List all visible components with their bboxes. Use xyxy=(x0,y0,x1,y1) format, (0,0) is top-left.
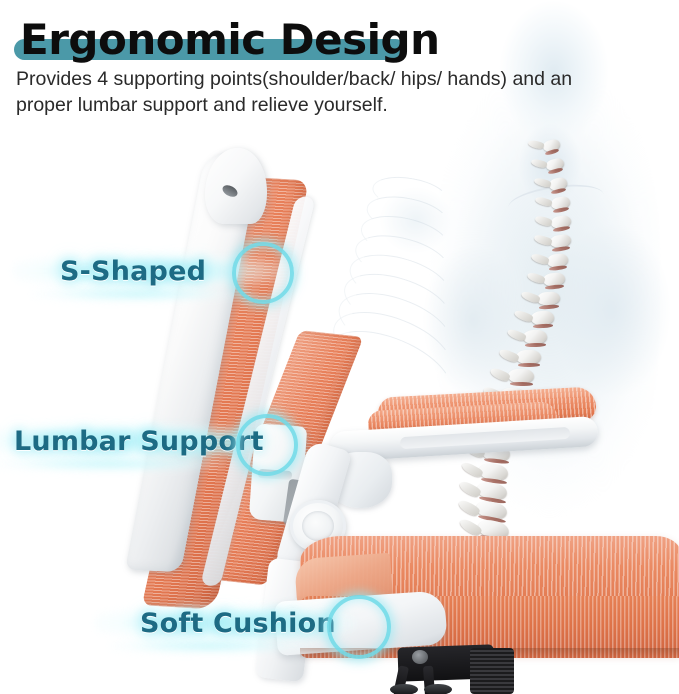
callout-s-shaped: S-Shaped xyxy=(60,248,206,294)
infographic-canvas: Ergonomic Design Provides 4 supporting p… xyxy=(0,0,679,694)
highlight-ring-icon xyxy=(327,595,391,659)
highlight-ring-icon xyxy=(236,414,298,476)
caster-wheel-right xyxy=(424,684,452,694)
caster-wheel-left xyxy=(390,684,418,694)
page-title: Ergonomic Design xyxy=(20,12,439,68)
callout-soft-cushion: Soft Cushion xyxy=(140,600,336,646)
callout-lumbar-support: Lumbar Support xyxy=(14,418,264,464)
callout-glow-bar-secondary xyxy=(0,456,226,472)
highlight-ring-icon xyxy=(232,242,294,304)
title-block: Ergonomic Design xyxy=(14,12,434,68)
callout-label: S-Shaped xyxy=(60,256,206,287)
gas-cylinder xyxy=(470,648,514,694)
callout-label: Soft Cushion xyxy=(140,608,336,639)
callout-label: Lumbar Support xyxy=(14,426,264,457)
mechanism-bolt xyxy=(412,650,428,664)
callout-glow-bar-secondary xyxy=(32,286,240,302)
page-subtitle: Provides 4 supporting points(shoulder/ba… xyxy=(16,66,596,118)
callout-glow-bar-secondary xyxy=(110,638,310,654)
